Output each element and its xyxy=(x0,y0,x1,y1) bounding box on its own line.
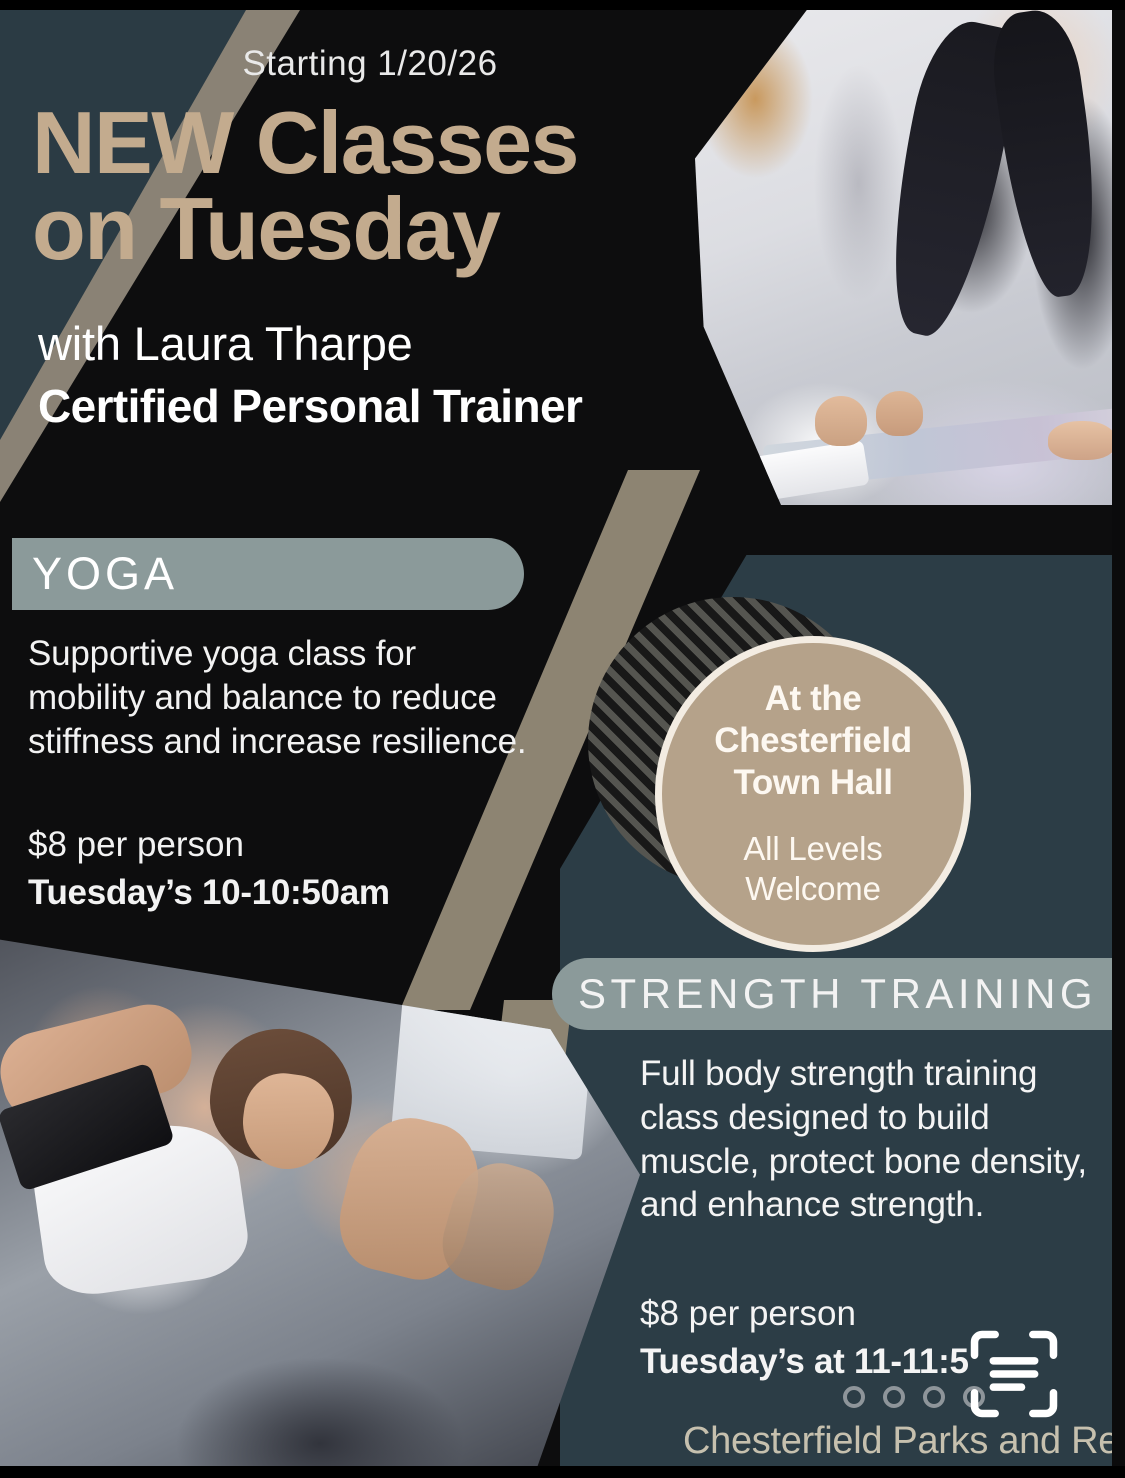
yoga-section-pill: YOGA xyxy=(12,538,524,610)
obscured-dots-row xyxy=(843,1386,985,1408)
yoga-schedule-text: Tuesday’s 10-10:50am xyxy=(28,871,528,915)
badge-subtitle: All Levels Welcome xyxy=(743,829,882,910)
page-title-line-2: on Tuesday xyxy=(32,186,700,272)
strength-description: Full body strength training class design… xyxy=(640,1052,1090,1227)
badge-title: At the Chesterfield Town Hall xyxy=(714,678,911,803)
bottom-edge-bar xyxy=(0,1466,1125,1478)
strength-class-photo xyxy=(0,906,640,1466)
badge-title-line-1: At the xyxy=(714,678,911,720)
location-badge: At the Chesterfield Town Hall All Levels… xyxy=(655,636,971,952)
badge-title-line-3: Town Hall xyxy=(714,762,911,804)
strength-price-text: $8 per person xyxy=(640,1294,856,1333)
organization-footer: Chesterfield Parks and Rec xyxy=(683,1420,1125,1463)
strength-pill-label: STRENGTH TRAINING xyxy=(552,970,1097,1018)
yoga-foot-shape-2 xyxy=(876,391,923,436)
yoga-leg-shape-2 xyxy=(985,5,1110,301)
obscured-dot xyxy=(923,1386,945,1408)
yoga-foot-shape-3 xyxy=(1048,421,1117,461)
strength-section-pill: STRENGTH TRAINING xyxy=(552,958,1125,1030)
yoga-description: Supportive yoga class for mobility and b… xyxy=(28,632,538,763)
yoga-pricing-block: $8 per person Tuesday’s 10-10:50am xyxy=(28,823,528,915)
header-block: Starting 1/20/26 NEW Classes on Tuesday … xyxy=(0,10,700,433)
obscured-dot xyxy=(843,1386,865,1408)
flyer-canvas: Starting 1/20/26 NEW Classes on Tuesday … xyxy=(0,0,1125,1478)
right-edge-bar xyxy=(1112,10,1125,1466)
badge-title-line-2: Chesterfield xyxy=(714,720,911,762)
yoga-price-text: $8 per person xyxy=(28,825,244,864)
badge-subtitle-line-1: All Levels xyxy=(743,829,882,869)
start-date-text: Starting 1/20/26 xyxy=(0,44,700,84)
yoga-foot-shape xyxy=(815,396,867,446)
instructor-name: with Laura Tharpe xyxy=(0,316,700,371)
obscured-dot xyxy=(883,1386,905,1408)
yoga-class-photo xyxy=(695,10,1125,505)
top-edge-bar xyxy=(0,0,1125,10)
yoga-pill-label: YOGA xyxy=(12,548,178,600)
page-title: NEW Classes on Tuesday xyxy=(0,100,700,272)
badge-subtitle-line-2: Welcome xyxy=(743,869,882,909)
scan-text-icon[interactable] xyxy=(967,1327,1061,1421)
instructor-credential: Certified Personal Trainer xyxy=(0,379,700,433)
page-title-line-1: NEW Classes xyxy=(32,100,700,186)
